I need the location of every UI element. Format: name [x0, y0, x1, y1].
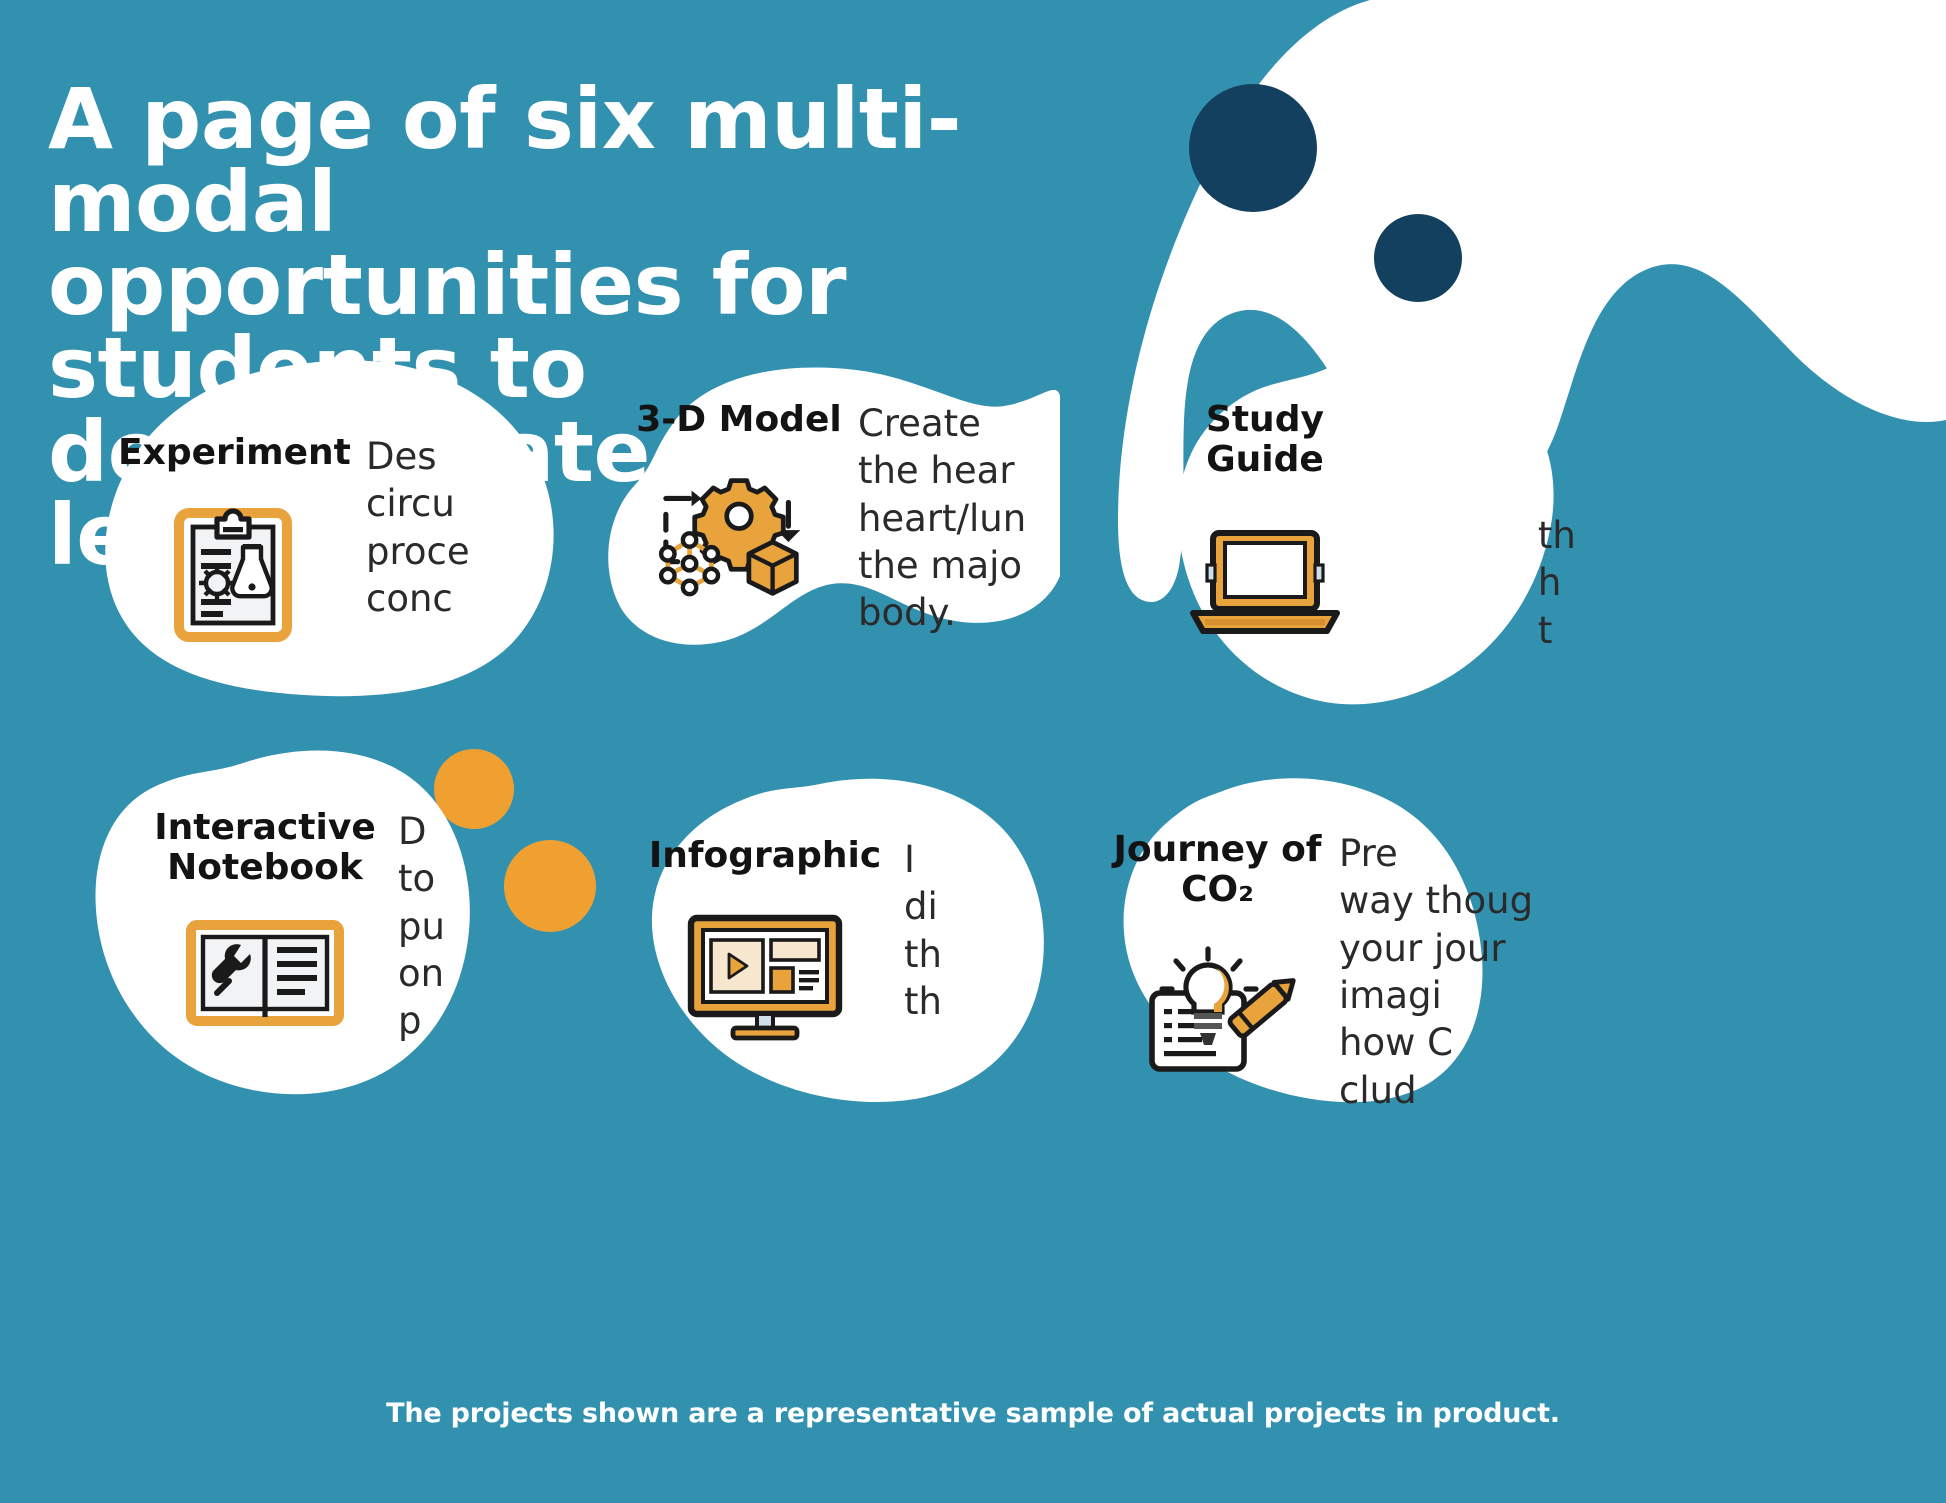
- card-body-experiment: Des circu proce conc: [366, 433, 536, 622]
- clipboard-experiment-icon: [118, 495, 348, 647]
- card-body-interactive-notebook: D to pu on p: [398, 808, 478, 1045]
- laptop-icon: [1162, 521, 1368, 645]
- card-title-journey-of-co2: Journey of CO₂: [1108, 830, 1327, 911]
- gear-cube-node-icon: [636, 474, 842, 602]
- card-title-interactive-notebook: Interactive Notebook: [150, 808, 380, 889]
- open-book-wrench-icon: [150, 913, 380, 1037]
- card-body-three-d-model: Create the hear heart/lun the majo body.: [858, 400, 1056, 637]
- card-title-study-guide: Study Guide: [1162, 400, 1368, 481]
- card-interactive-notebook[interactable]: Interactive Notebook: [60, 740, 510, 1100]
- card-body-journey-of-co2: Pre way thoug your jour imagi how C clud: [1339, 830, 1558, 1114]
- card-title-infographic: Infographic: [640, 836, 890, 876]
- monitor-media-icon: [640, 908, 890, 1044]
- card-experiment[interactable]: Experiment: [90, 355, 570, 700]
- card-title-three-d-model: 3-D Model: [636, 400, 842, 440]
- navy-dot-small: [1374, 214, 1462, 302]
- card-three-d-model[interactable]: 3-D Model: [600, 362, 1060, 667]
- footer-caption: The projects shown are a representative …: [0, 1398, 1946, 1429]
- navy-dot-large: [1189, 84, 1317, 212]
- card-title-experiment: Experiment: [118, 433, 348, 473]
- poster-canvas: A page of six multi-modal opportunities …: [0, 0, 1946, 1503]
- orange-dot-lower: [504, 840, 596, 932]
- card-journey-of-co2[interactable]: Journey of CO₂: [1078, 768, 1548, 1108]
- card-body-infographic: I di th th: [904, 836, 974, 1025]
- card-study-guide[interactable]: Study Guide th h t: [1130, 340, 1610, 720]
- card-body-study-guide: th h t: [1538, 512, 1612, 654]
- lightbulb-notepad-pencil-icon: [1108, 941, 1327, 1077]
- card-infographic[interactable]: Infographic: [610, 770, 1090, 1105]
